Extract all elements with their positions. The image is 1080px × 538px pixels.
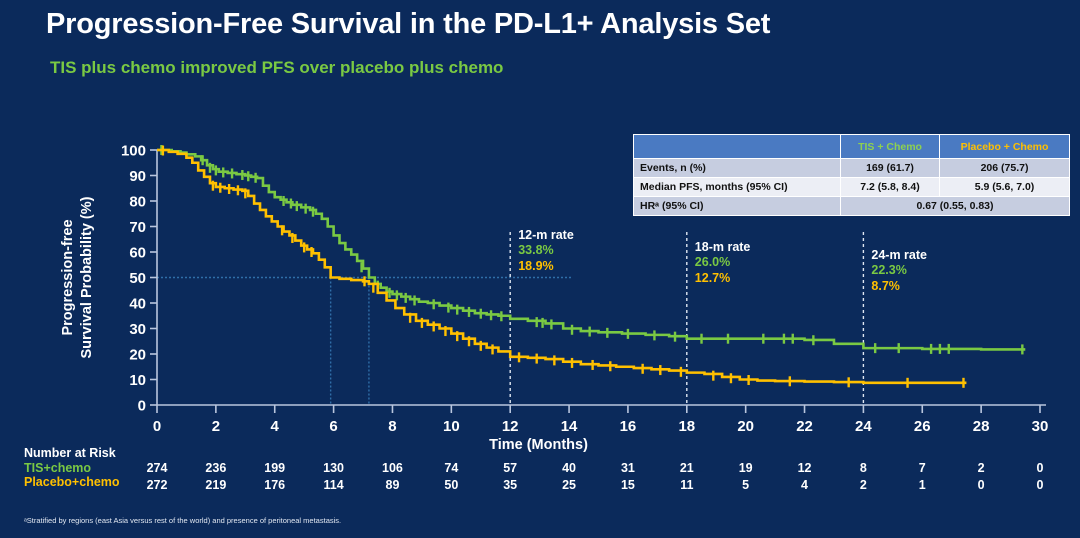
y-tick-label: 50	[129, 270, 146, 287]
results-header-tis: TIS + Chemo	[840, 135, 939, 159]
number-at-risk-value: 130	[319, 461, 349, 475]
number-at-risk-value: 272	[142, 478, 172, 492]
table-row: Events, n (%) 169 (61.7) 206 (75.7)	[634, 159, 1070, 178]
y-tick-label: 20	[129, 347, 146, 364]
y-tick-label: 80	[129, 194, 146, 211]
row-label-median-pfs: Median PFS, months (95% CI)	[634, 178, 841, 197]
milestone-placebo-rate: 8.7%	[871, 279, 927, 294]
milestone-24m: 24-m rate22.3%8.7%	[871, 248, 927, 294]
y-tick-label: 100	[121, 143, 146, 160]
number-at-risk-value: 0	[966, 478, 996, 492]
x-tick-label: 0	[153, 418, 161, 435]
x-tick-label: 14	[561, 418, 578, 435]
number-at-risk-value: 106	[377, 461, 407, 475]
number-at-risk-value: 2	[848, 478, 878, 492]
milestone-placebo-rate: 12.7%	[695, 271, 751, 286]
milestone-tis-rate: 26.0%	[695, 255, 751, 270]
y-tick-label: 70	[129, 219, 146, 236]
number-at-risk-value: 11	[672, 478, 702, 492]
number-at-risk-value: 89	[377, 478, 407, 492]
number-at-risk-table: TIS+chemoPlacebo+chemo	[24, 461, 158, 489]
x-tick-label: 16	[620, 418, 637, 435]
results-header-row: TIS + Chemo Placebo + Chemo	[634, 135, 1070, 159]
median-pfs-tis-value: 7.2 (5.8, 8.4)	[840, 178, 939, 197]
y-tick-label: 40	[129, 296, 146, 313]
number-at-risk-value: 40	[554, 461, 584, 475]
number-at-risk-title: Number at Risk	[24, 446, 116, 460]
events-placebo-value: 206 (75.7)	[940, 159, 1070, 178]
x-tick-label: 4	[271, 418, 280, 435]
number-at-risk-row: Placebo+chemo	[24, 475, 158, 489]
slide-root: Progression-Free Survival in the PD-L1+ …	[0, 0, 1080, 538]
events-tis-value: 169 (61.7)	[840, 159, 939, 178]
milestone-label: 24-m rate	[871, 248, 927, 263]
number-at-risk-value: 199	[260, 461, 290, 475]
number-at-risk-value: 114	[319, 478, 349, 492]
number-at-risk-value: 21	[672, 461, 702, 475]
x-tick-label: 28	[973, 418, 990, 435]
milestone-placebo-rate: 18.9%	[518, 259, 574, 274]
x-tick-label: 26	[914, 418, 931, 435]
results-table: TIS + Chemo Placebo + Chemo Events, n (%…	[633, 134, 1070, 216]
results-table-body: Events, n (%) 169 (61.7) 206 (75.7) Medi…	[634, 159, 1070, 216]
milestone-label: 12-m rate	[518, 228, 574, 243]
number-at-risk-value: 35	[495, 478, 525, 492]
number-at-risk-value: 4	[790, 478, 820, 492]
number-at-risk-value: 1	[907, 478, 937, 492]
x-axis-title: Time (Months)	[489, 437, 588, 453]
x-tick-label: 6	[329, 418, 337, 435]
number-at-risk-value: 5	[731, 478, 761, 492]
number-at-risk-value: 25	[554, 478, 584, 492]
number-at-risk-value: 74	[436, 461, 466, 475]
x-tick-label: 30	[1032, 418, 1049, 435]
milestone-18m: 18-m rate26.0%12.7%	[695, 240, 751, 286]
results-header-placebo: Placebo + Chemo	[940, 135, 1070, 159]
table-row: HRᵃ (95% CI) 0.67 (0.55, 0.83)	[634, 197, 1070, 216]
number-at-risk-body: TIS+chemoPlacebo+chemo	[24, 461, 158, 489]
x-tick-label: 10	[443, 418, 460, 435]
y-tick-label: 10	[129, 372, 146, 389]
x-tick-label: 24	[855, 418, 872, 435]
y-tick-label: 60	[129, 245, 146, 262]
number-at-risk-value: 50	[436, 478, 466, 492]
x-tick-label: 22	[796, 418, 813, 435]
x-tick-label: 12	[502, 418, 519, 435]
x-tick-label: 8	[388, 418, 396, 435]
number-at-risk-value: 8	[848, 461, 878, 475]
number-at-risk-value: 31	[613, 461, 643, 475]
number-at-risk-value: 2	[966, 461, 996, 475]
number-at-risk-row-label: TIS+chemo	[24, 461, 158, 475]
number-at-risk-value: 219	[201, 478, 231, 492]
milestone-tis-rate: 33.8%	[518, 243, 574, 258]
x-tick-label: 18	[678, 418, 695, 435]
row-label-hr: HRᵃ (95% CI)	[634, 197, 841, 216]
footnote: ᵃStratified by regions (east Asia versus…	[24, 516, 341, 525]
number-at-risk-value: 15	[613, 478, 643, 492]
number-at-risk-value: 12	[790, 461, 820, 475]
y-tick-label: 30	[129, 321, 146, 338]
number-at-risk-value: 19	[731, 461, 761, 475]
number-at-risk-value: 7	[907, 461, 937, 475]
number-at-risk-value: 176	[260, 478, 290, 492]
number-at-risk-row: TIS+chemo	[24, 461, 158, 475]
results-header-blank	[634, 135, 841, 159]
milestone-12m: 12-m rate33.8%18.9%	[518, 228, 574, 274]
y-axis-title-line: Survival Probability (%)	[79, 196, 95, 358]
number-at-risk-value: 0	[1025, 478, 1055, 492]
milestone-tis-rate: 22.3%	[871, 263, 927, 278]
hr-value: 0.67 (0.55, 0.83)	[840, 197, 1069, 216]
row-label-events: Events, n (%)	[634, 159, 841, 178]
number-at-risk-value: 0	[1025, 461, 1055, 475]
y-axis-title-line: Progression-free	[60, 219, 76, 335]
y-tick-label: 0	[138, 398, 146, 415]
results-table-head: TIS + Chemo Placebo + Chemo	[634, 135, 1070, 159]
number-at-risk-row-label: Placebo+chemo	[24, 475, 158, 489]
x-tick-label: 2	[212, 418, 220, 435]
number-at-risk-value: 274	[142, 461, 172, 475]
x-tick-label: 20	[737, 418, 754, 435]
median-pfs-placebo-value: 5.9 (5.6, 7.0)	[940, 178, 1070, 197]
y-tick-label: 90	[129, 168, 146, 185]
milestone-label: 18-m rate	[695, 240, 751, 255]
number-at-risk-value: 57	[495, 461, 525, 475]
number-at-risk-value: 236	[201, 461, 231, 475]
table-row: Median PFS, months (95% CI) 7.2 (5.8, 8.…	[634, 178, 1070, 197]
